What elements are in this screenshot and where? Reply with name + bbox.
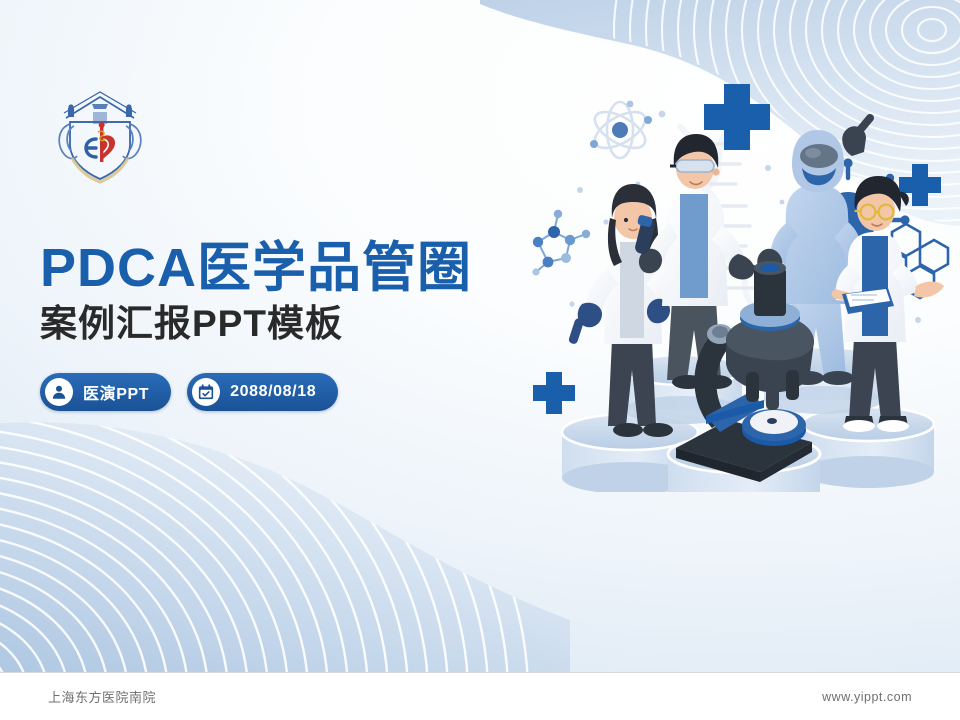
meta-pill-group: 医演PPT 2088/08/18 xyxy=(40,373,560,411)
date-pill-label: 2088/08/18 xyxy=(230,383,316,401)
date-pill[interactable]: 2088/08/18 xyxy=(187,373,338,411)
slide-footer: 上海东方医院南院 www.yippt.com xyxy=(0,672,960,720)
footer-organization: 上海东方医院南院 xyxy=(48,687,156,706)
user-icon xyxy=(45,378,73,406)
calendar-icon xyxy=(192,378,220,406)
author-pill[interactable]: 医演PPT xyxy=(40,373,171,411)
author-pill-label: 医演PPT xyxy=(83,380,149,404)
molecule-structure xyxy=(532,210,590,276)
title-block: PDCA医学品管圈 案例汇报PPT模板 医演PPT xyxy=(40,240,560,411)
page-subtitle: 案例汇报PPT模板 xyxy=(40,303,560,344)
footer-website[interactable]: www.yippt.com xyxy=(822,690,912,704)
page-title: PDCA医学品管圈 xyxy=(40,240,560,297)
presentation-slide: PDCA医学品管圈 案例汇报PPT模板 医演PPT xyxy=(0,0,960,720)
medical-research-team-illustration xyxy=(520,72,960,492)
atom-icon xyxy=(589,101,652,158)
hospital-crest-logo xyxy=(48,82,152,186)
